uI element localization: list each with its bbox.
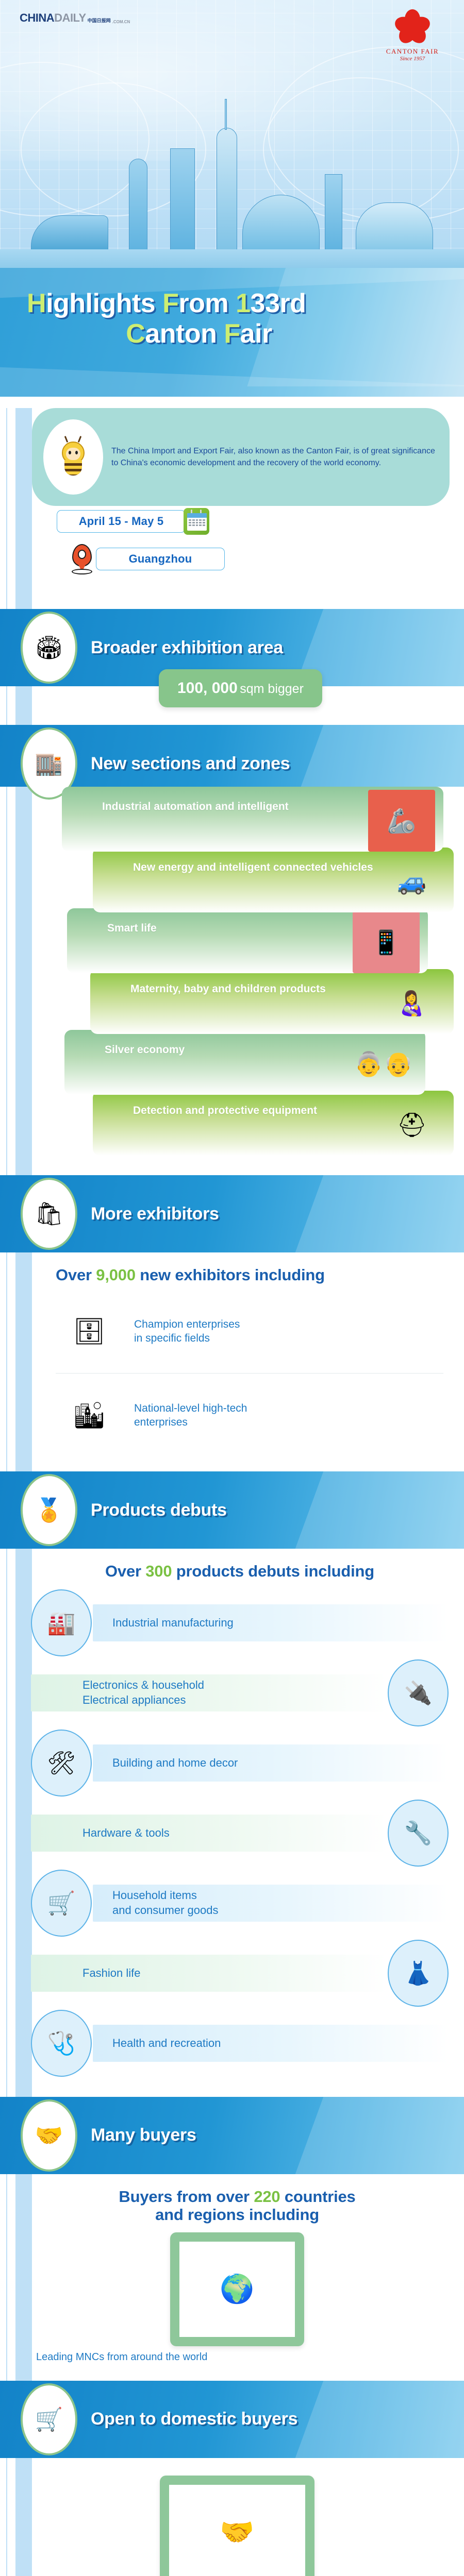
section-header-many-buyers: 🤝 Many buyers	[0, 2097, 464, 2174]
debut-label: Health and recreation	[112, 2036, 221, 2050]
guangzhou-skyline-illustration	[0, 134, 464, 268]
new-product-badge-icon: 🏅	[21, 1474, 77, 1546]
debut-item[interactable]: 🛒 Household itemsand consumer goods	[31, 1869, 449, 1937]
left-rail-decor	[0, 686, 36, 725]
left-rail-decor	[0, 2174, 36, 2381]
exhibitor-label: National-level high-techenterprises	[134, 1401, 247, 1430]
left-rail-decor	[0, 1252, 36, 1471]
factory-icon: 🏭	[31, 1589, 92, 1656]
title-line-1: Highlights From 133rd	[27, 289, 464, 319]
page-title: Highlights From 133rd Canton Fair	[0, 268, 464, 350]
zone-label: Industrial automation and intelligent	[62, 787, 368, 814]
exhibitors-headline: Over 9,000 new exhibitors including	[56, 1266, 443, 1284]
fashion-shopping-icon: 👗	[388, 1940, 449, 2007]
map-pin-icon	[70, 544, 94, 574]
mother-baby-icon: 👩‍🍼	[378, 972, 445, 1034]
calendar-icon	[184, 508, 209, 535]
water-reflection	[0, 249, 464, 268]
infographic-page: CHINADAILY 中国日报网 .COM.CN CANTON FAIR Sin…	[0, 0, 464, 2576]
chinadaily-wordmark: CHINADAILY	[20, 11, 86, 25]
zone-card[interactable]: Detection and protective equipment ⛑	[93, 1091, 454, 1156]
debut-item[interactable]: Hardware & tools 🔧	[31, 1799, 449, 1867]
zone-card[interactable]: Industrial automation and intelligent 🦾	[62, 787, 443, 852]
exhibitor-item[interactable]: 🏙 National-level high-techenterprises	[56, 1377, 443, 1454]
canton-fair-name: CANTON FAIR	[382, 47, 443, 56]
eco-store-icon: 🛍	[21, 1178, 77, 1250]
section-header-products-debuts: 🏅 Products debuts	[0, 1471, 464, 1549]
domestic-photo-frame: 🤝	[160, 2476, 314, 2576]
buyers-photo-frame: 🌍	[170, 2232, 304, 2346]
debuts-headline: Over 300 products debuts including	[31, 1562, 449, 1581]
bee-mascot-icon	[43, 419, 103, 495]
robot-arm-icon: 🦾	[368, 790, 435, 852]
zones-list: Industrial automation and intelligent 🦾 …	[0, 787, 464, 1175]
title-line-2: Canton Fair	[27, 319, 464, 349]
zone-card[interactable]: Silver economy 👵👴	[64, 1030, 425, 1095]
zone-card[interactable]: Maternity, baby and children products 👩‍…	[90, 969, 454, 1034]
debut-item[interactable]: 🏭 Industrial manufacturing	[31, 1589, 449, 1657]
date-value: April 15 - May 5	[79, 515, 164, 528]
tools-icon: 🔧	[388, 1800, 449, 1867]
area-stat-number: 100, 000	[177, 680, 238, 697]
chinadaily-chinese-name: 中国日报网	[88, 17, 111, 24]
section-title: More exhibitors	[91, 1204, 219, 1224]
debut-label: Electronics & householdElectrical applia…	[82, 1678, 204, 1707]
domestic-buyers-body: 🤝 Nearly 100 leading domestic enterprise…	[0, 2458, 464, 2576]
canton-fair-logo[interactable]: CANTON FAIR Since 1957	[382, 9, 443, 62]
broader-area-body: 100, 000 sqm bigger	[0, 686, 464, 725]
business-handshake-icon: 🤝	[169, 2485, 305, 2576]
handshake-contract-icon: 🤝	[21, 2099, 77, 2172]
debut-label: Hardware & tools	[82, 1826, 170, 1840]
area-stat-unit: sqm bigger	[240, 682, 304, 696]
exhibitor-item[interactable]: 🗄 Champion enterprisesin specific fields	[56, 1293, 443, 1370]
exhibition-hall-icon: 🏟	[21, 612, 77, 684]
debut-item[interactable]: Fashion life 👗	[31, 1939, 449, 2007]
divider	[56, 1373, 443, 1374]
debut-label: Household itemsand consumer goods	[112, 1888, 218, 1917]
left-rail-decor	[0, 787, 36, 1175]
exhibitor-label: Champion enterprisesin specific fields	[134, 1317, 240, 1346]
debut-label: Industrial manufacturing	[112, 1616, 234, 1630]
section-title: New sections and zones	[91, 754, 290, 774]
canton-fair-flower-icon	[394, 9, 430, 45]
debut-item[interactable]: 🛠 Building and home decor	[31, 1729, 449, 1797]
server-stack-icon: 🗄	[56, 1298, 123, 1365]
zone-card[interactable]: Smart life 📱	[67, 908, 428, 973]
buyers-headline: Buyers from over 220 countriesand region…	[31, 2188, 443, 2224]
products-debuts-body: Over 300 products debuts including 🏭 Ind…	[0, 1549, 464, 2097]
main-title-band: Highlights From 133rd Canton Fair	[0, 268, 464, 397]
chinadaily-logo[interactable]: CHINADAILY 中国日报网 .COM.CN	[20, 11, 130, 25]
intro-text: The China Import and Export Fair, also k…	[111, 445, 436, 469]
home-decor-icon: 🛠	[31, 1730, 92, 1797]
chinadaily-domain: .COM.CN	[112, 20, 130, 24]
safety-helmet-icon: ⛑	[378, 1094, 445, 1156]
section-title: Open to domestic buyers	[91, 2409, 297, 2429]
debut-item[interactable]: Electronics & householdElectrical applia…	[31, 1659, 449, 1727]
doctor-health-icon: 🩺	[31, 2010, 92, 2077]
location-value: Guangzhou	[129, 552, 192, 565]
event-meta: April 15 - May 5 Guangzhou	[0, 506, 464, 597]
intro-card: The China Import and Export Fair, also k…	[32, 408, 450, 506]
left-rail-decor	[0, 2458, 36, 2576]
section-header-more-exhibitors: 🛍 More exhibitors	[0, 1175, 464, 1252]
date-row: April 15 - May 5	[57, 508, 464, 535]
section-title: Many buyers	[91, 2125, 196, 2145]
electronics-icon: 🔌	[388, 1659, 449, 1726]
section-title: Products debuts	[91, 1500, 227, 1520]
intro-section: The China Import and Export Fair, also k…	[0, 408, 464, 609]
left-rail-decor	[0, 408, 36, 609]
date-pill: April 15 - May 5	[57, 510, 186, 533]
tech-city-icon: 🏙	[56, 1382, 123, 1449]
section-header-domestic-buyers: 🛒 Open to domestic buyers	[0, 2381, 464, 2458]
section-title: Broader exhibition area	[91, 638, 283, 658]
buyers-caption: Leading MNCs from around the world	[31, 2351, 443, 2363]
debut-item[interactable]: 🩺 Health and recreation	[31, 2009, 449, 2077]
electric-car-icon: 🚙	[378, 851, 445, 912]
zone-card[interactable]: New energy and intelligent connected veh…	[93, 848, 454, 912]
smart-phone-icon: 📱	[353, 911, 420, 973]
elderly-couple-icon: 👵👴	[350, 1033, 417, 1095]
global-meeting-icon: 🌍	[179, 2242, 295, 2337]
location-row: Guangzhou	[57, 544, 464, 574]
debut-label: Fashion life	[82, 1966, 141, 1980]
more-exhibitors-body: Over 9,000 new exhibitors including 🗄 Ch…	[0, 1252, 464, 1471]
location-pill: Guangzhou	[96, 548, 225, 570]
shopping-goods-icon: 🛒	[31, 1870, 92, 1937]
online-shopping-icon: 🛒	[21, 2383, 77, 2455]
many-buyers-body: Buyers from over 220 countriesand region…	[0, 2174, 464, 2381]
canton-fair-since: Since 1957	[382, 56, 443, 62]
debut-label: Building and home decor	[112, 1756, 238, 1770]
area-stat-pill: 100, 000 sqm bigger	[159, 669, 322, 707]
hero-banner: CHINADAILY 中国日报网 .COM.CN CANTON FAIR Sin…	[0, 0, 464, 268]
